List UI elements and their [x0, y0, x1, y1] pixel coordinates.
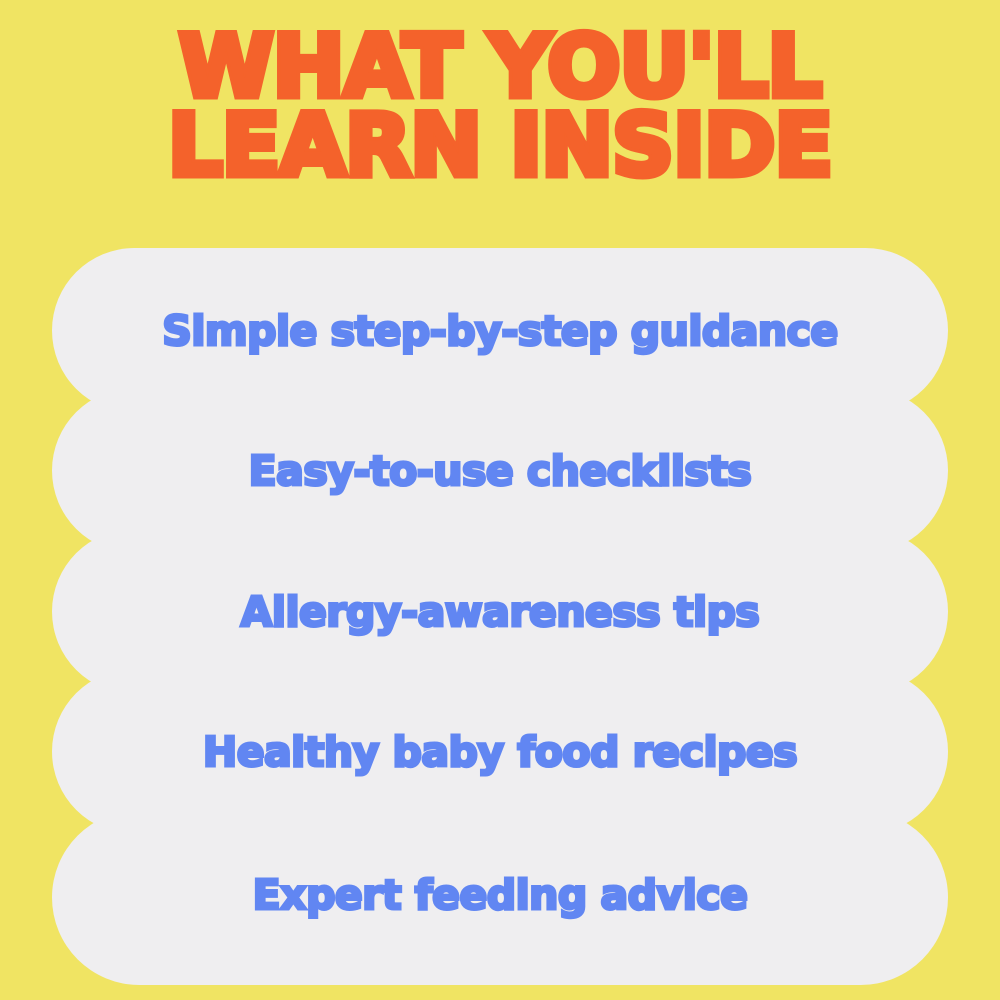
poster-canvas: WHAT YOU'LL LEARN INSIDE Simple step-by-… [0, 0, 1000, 1000]
list-item: Allergy-awareness tips [52, 529, 948, 694]
list-item-label: Easy-to-use checklists [249, 447, 752, 495]
page-title: WHAT YOU'LL LEARN INSIDE [0, 28, 1000, 186]
list-item-label: Simple step-by-step guidance [162, 307, 837, 355]
list-item: Simple step-by-step guidance [52, 248, 948, 413]
list-item-label: Expert feeding advice [253, 871, 748, 919]
list-item: Expert feeding advice [52, 810, 948, 985]
page-title-line-2: LEARN INSIDE [0, 107, 1000, 186]
list-item-label: Healthy baby food recipes [203, 728, 797, 776]
list-item-label: Allergy-awareness tips [241, 588, 760, 636]
feature-list: Simple step-by-step guidance Easy-to-use… [52, 248, 948, 950]
